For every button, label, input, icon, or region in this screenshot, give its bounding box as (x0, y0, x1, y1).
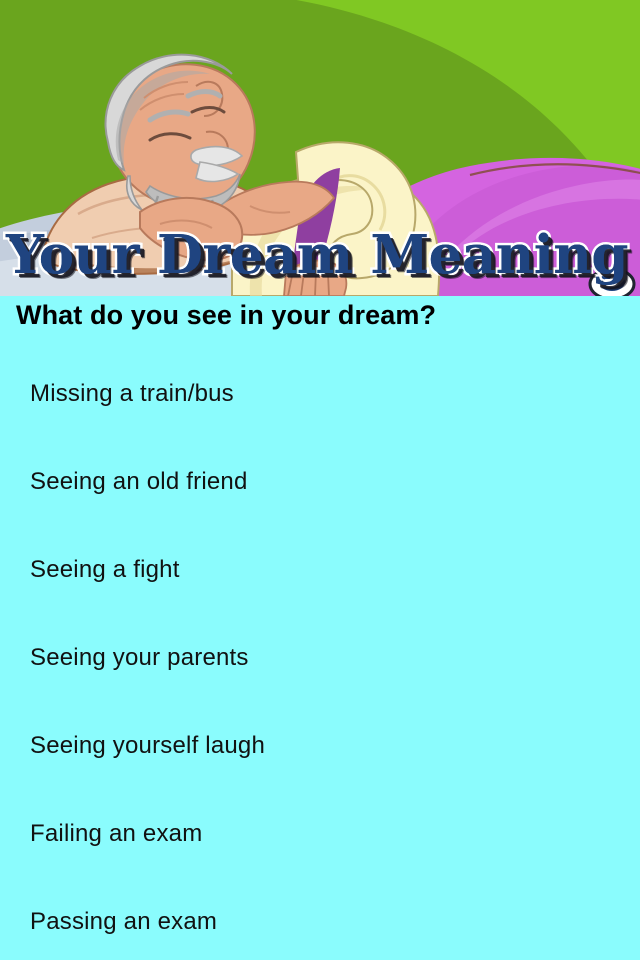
list-item[interactable]: Passing an exam (0, 878, 640, 960)
list-item-label: Failing an exam (30, 820, 202, 848)
question-heading: What do you see in your dream? (16, 300, 436, 331)
list-item[interactable]: Missing a train/bus (0, 350, 640, 438)
list-item-label: Seeing a fight (30, 556, 180, 584)
list-item[interactable]: Seeing your parents (0, 614, 640, 702)
logo-badge (590, 269, 634, 296)
list-item-label: Seeing an old friend (30, 468, 248, 496)
list-item[interactable]: Seeing an old friend (0, 438, 640, 526)
list-item[interactable]: Seeing a fight (0, 526, 640, 614)
list-item-label: Seeing yourself laugh (30, 732, 265, 760)
dream-list: Missing a train/bus Seeing an old friend… (0, 350, 640, 960)
list-item-label: Missing a train/bus (30, 380, 234, 408)
list-item-label: Passing an exam (30, 908, 217, 936)
app-root: Your Dream Meaning Your Dream Meaning Wh… (0, 0, 640, 960)
list-item[interactable]: Failing an exam (0, 790, 640, 878)
header-illustration (0, 0, 640, 296)
list-item[interactable]: Seeing yourself laugh (0, 702, 640, 790)
list-item-label: Seeing your parents (30, 644, 249, 672)
